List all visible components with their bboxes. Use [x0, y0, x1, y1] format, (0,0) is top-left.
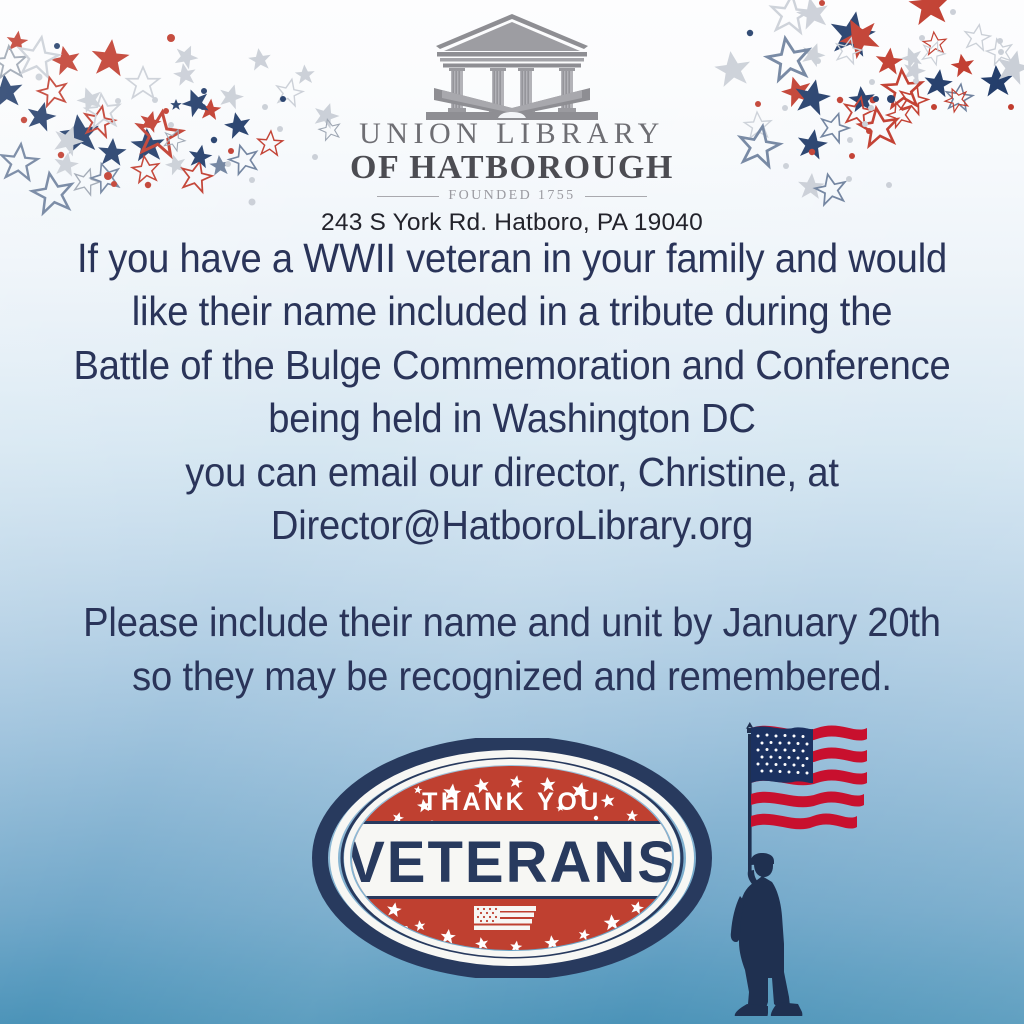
thank-you-veterans-badge: THANK YOU VETERANS: [312, 738, 712, 978]
badge-top-text: THANK YOU: [422, 788, 602, 816]
message-line: If you have a WWII veteran in your famil…: [36, 232, 988, 285]
founded-rule-right: [585, 196, 647, 197]
founded-rule-left: [377, 196, 439, 197]
message-line: like their name included in a tribute du…: [36, 285, 988, 338]
paragraph-spacer: [0, 552, 1024, 596]
soldier-silhouette-icon: [731, 853, 803, 1016]
message-line: Please include their name and unit by Ja…: [36, 596, 988, 649]
waving-us-flag-icon: [751, 725, 867, 829]
library-building-icon: [412, 8, 612, 120]
message-body: If you have a WWII veteran in your famil…: [0, 232, 1024, 703]
message-line: you can email our director, Christine, a…: [36, 446, 988, 499]
soldier-with-flag: [718, 716, 888, 1016]
contact-email[interactable]: Director@HatboroLibrary.org: [36, 499, 988, 552]
logo-name-line2: OF HATBOROUGH: [0, 150, 1024, 186]
logo-name-line1: UNION LIBRARY: [0, 118, 1024, 150]
logo-founded-row: FOUNDED 1755: [0, 188, 1024, 204]
message-line: Battle of the Bulge Commemoration and Co…: [36, 339, 988, 392]
message-line: being held in Washington DC: [36, 392, 988, 445]
message-line: so they may be recognized and remembered…: [36, 650, 988, 703]
logo-founded: FOUNDED 1755: [448, 188, 575, 204]
badge-main-text: VETERANS: [346, 830, 678, 895]
library-logo: UNION LIBRARY OF HATBOROUGH FOUNDED 1755…: [0, 8, 1024, 237]
poster-canvas: UNION LIBRARY OF HATBOROUGH FOUNDED 1755…: [0, 0, 1024, 1024]
